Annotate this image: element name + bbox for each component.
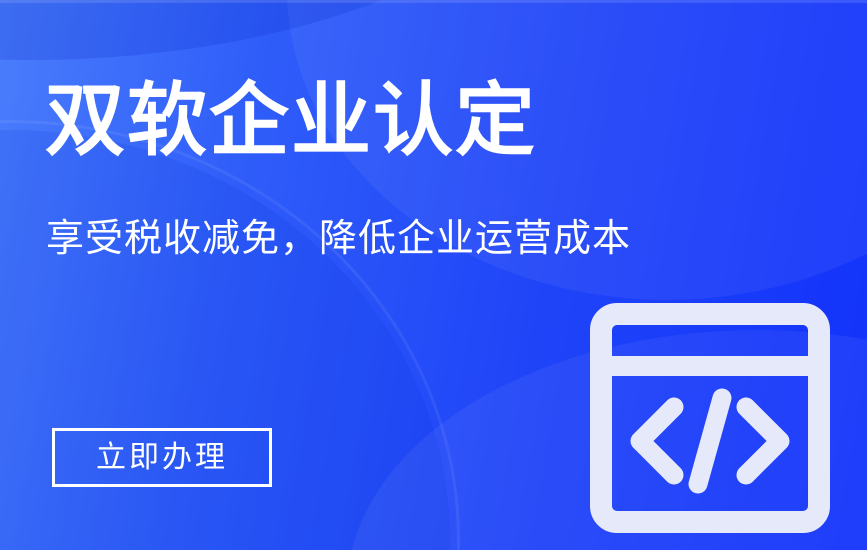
apply-now-button[interactable]: 立即办理 <box>52 428 272 487</box>
icon-slash <box>698 398 722 484</box>
promo-banner: 双软企业认定 享受税收减免，降低企业运营成本 立即办理 <box>0 0 867 550</box>
banner-content: 双软企业认定 享受税收减免，降低企业运营成本 立即办理 <box>0 0 867 550</box>
icon-right-angle-bracket <box>746 407 780 475</box>
icon-left-angle-bracket <box>640 407 674 475</box>
code-window-icon <box>590 303 830 533</box>
banner-subtitle: 享受税收减免，降低企业运营成本 <box>46 216 631 264</box>
banner-title: 双软企业认定 <box>45 79 537 163</box>
